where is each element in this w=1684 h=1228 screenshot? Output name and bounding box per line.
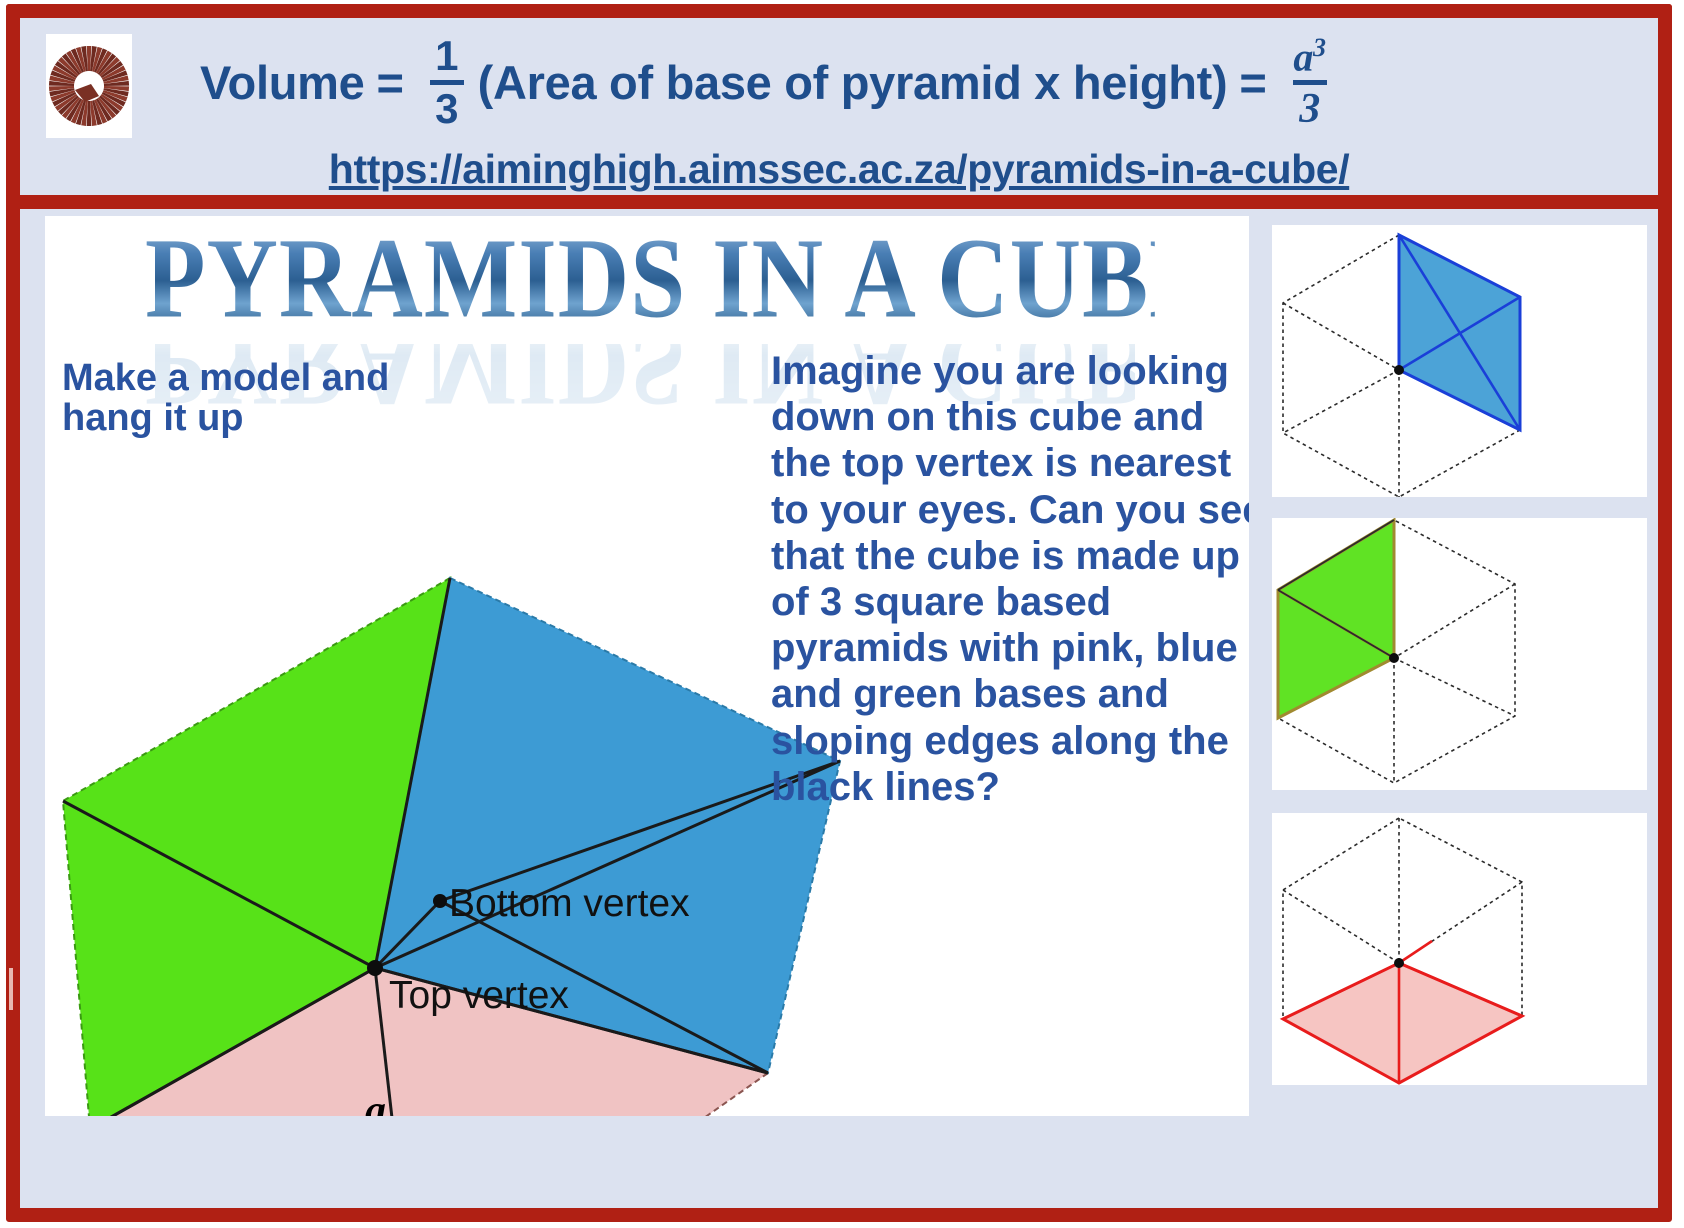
make-a-model-heading: Make a model and hang it up [62, 358, 412, 439]
pink-pyramid-in-cube [1272, 813, 1647, 1085]
bottom-vertex-dot [433, 894, 447, 908]
top-vertex-label: Top vertex [389, 974, 569, 1017]
formula-expression: (Area of base of pyramid x height) [478, 55, 1228, 110]
page-title-text: PYRAMIDS IN A CUBE [145, 221, 1155, 335]
content-panel: PYRAMIDS IN A CUBE PYRAMIDS IN A CUBE Ma… [45, 216, 1249, 1116]
green-pyramid-in-cube [1272, 518, 1647, 790]
top-vertex-dot [367, 960, 383, 976]
formula-equals-2: = [1239, 55, 1266, 110]
explanation-paragraph: Imagine you are looking down on this cub… [771, 348, 1249, 810]
fraction-denominator: 3 [435, 85, 458, 130]
fraction-a-cubed-over-three: a3 3 [1293, 35, 1327, 130]
cube-centre-dot [1394, 365, 1404, 375]
main-cube-diagram: Bottom vertex Top vertex a a a [45, 336, 845, 1116]
lesson-url-link[interactable]: https://aiminghigh.aimssec.ac.za/pyramid… [20, 146, 1658, 193]
aimssec-africa-logo [46, 34, 132, 138]
page-title: PYRAMIDS IN A CUBE [145, 221, 1135, 351]
border-artifact [9, 968, 13, 1010]
formula-label: Volume [200, 55, 364, 110]
cube-centre-dot [1394, 958, 1404, 968]
result-numerator: a3 [1293, 35, 1325, 80]
formula-equals: = [376, 55, 403, 110]
fraction-numerator: 1 [435, 35, 458, 80]
header-box: Volume = 1 3 (Area of base of pyramid x … [6, 4, 1672, 209]
volume-formula: Volume = 1 3 (Area of base of pyramid x … [200, 30, 1500, 135]
fraction-one-third: 1 3 [430, 35, 464, 130]
bottom-vertex-label: Bottom vertex [449, 882, 690, 925]
result-denominator: 3 [1299, 85, 1320, 130]
slide-root: Volume = 1 3 (Area of base of pyramid x … [0, 0, 1684, 1228]
cube-centre-dot [1389, 653, 1399, 663]
edge-label-a-vertical: a [365, 1088, 386, 1116]
blue-pyramid-in-cube [1272, 225, 1647, 497]
